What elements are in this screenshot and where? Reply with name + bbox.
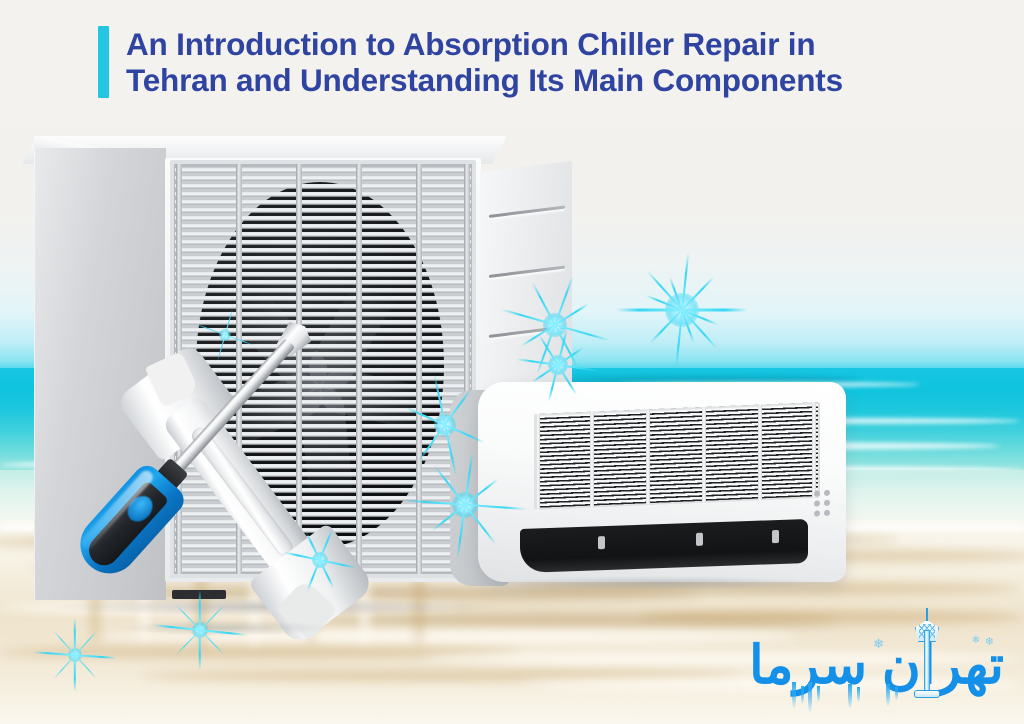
- repair-tools-group: [80, 328, 420, 658]
- icicle-decoration: [801, 686, 804, 704]
- milad-tower-icon: [912, 610, 942, 700]
- title-accent-bar: [98, 26, 109, 98]
- icicle-decoration: [895, 687, 898, 700]
- screwdriver-shaft: [170, 338, 295, 475]
- icicle-decoration: [857, 687, 860, 702]
- snowflake-icon: ❄: [972, 636, 980, 646]
- indoor-unit-shadow: [496, 576, 826, 590]
- icicle-decoration: [848, 684, 852, 708]
- indoor-split-unit: [450, 378, 850, 600]
- page-title: An Introduction to Absorption Chiller Re…: [98, 26, 843, 98]
- icicle-decoration: [886, 684, 890, 706]
- hero-banner: An Introduction to Absorption Chiller Re…: [0, 0, 1024, 724]
- icicle-decoration: [808, 682, 812, 712]
- wrench-shadow: [120, 620, 330, 636]
- indoor-unit-intake-grille: [534, 402, 820, 510]
- indoor-unit-sensor-dots: [814, 489, 836, 517]
- icicle-decoration: [792, 682, 796, 708]
- snowflake-icon: ❄: [985, 637, 994, 648]
- brand-logo[interactable]: تهران سرما ❄ ❄ ❄: [760, 602, 1010, 714]
- page-title-text: An Introduction to Absorption Chiller Re…: [126, 26, 843, 98]
- icicle-decoration: [817, 686, 820, 702]
- snowflake-icon: ❄: [873, 637, 884, 650]
